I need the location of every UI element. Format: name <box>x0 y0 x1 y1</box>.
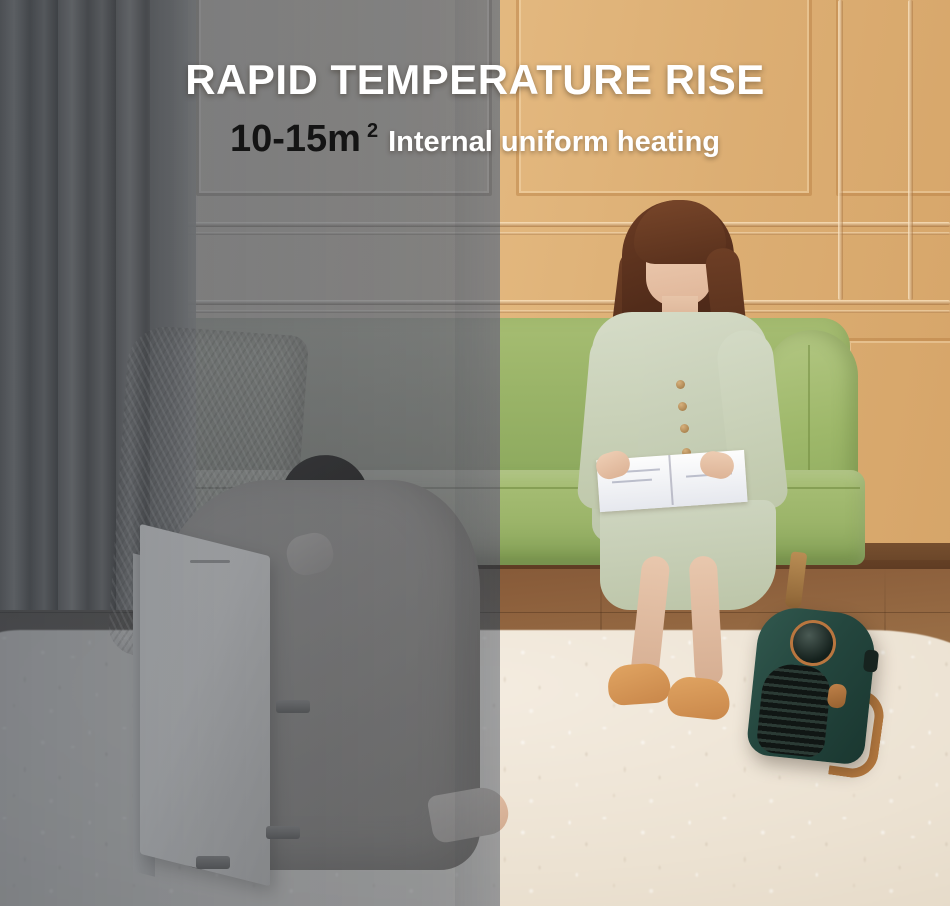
panel-heater-vent <box>190 560 230 563</box>
panel-heater-foot <box>266 826 300 839</box>
product-banner: RAPID TEMPERATURE RISE 10-15m 2 Internal… <box>0 0 950 906</box>
wall-moulding-upper <box>186 222 950 227</box>
heater-grill <box>755 662 832 759</box>
panel-heater-foot <box>196 856 230 869</box>
wall-moulding-vertical-2 <box>908 0 913 300</box>
dress-button <box>676 380 685 389</box>
dress-button <box>680 424 689 433</box>
wall-panel-1 <box>196 0 492 196</box>
wall-panel-2 <box>516 0 812 196</box>
panel-heater-foot <box>276 700 310 713</box>
heater-side-tab <box>863 649 879 672</box>
dress-button <box>678 402 687 411</box>
wall-moulding-lower <box>186 300 950 305</box>
room-scene <box>0 0 950 906</box>
wall-moulding-vertical-1 <box>838 0 843 300</box>
reading-woman-skirt <box>600 500 776 610</box>
wall-moulding-lower-shadow <box>186 310 950 313</box>
panel-heater-body <box>140 524 270 886</box>
wall-moulding-upper-shadow <box>186 232 950 235</box>
wall-panel-3 <box>836 0 950 196</box>
